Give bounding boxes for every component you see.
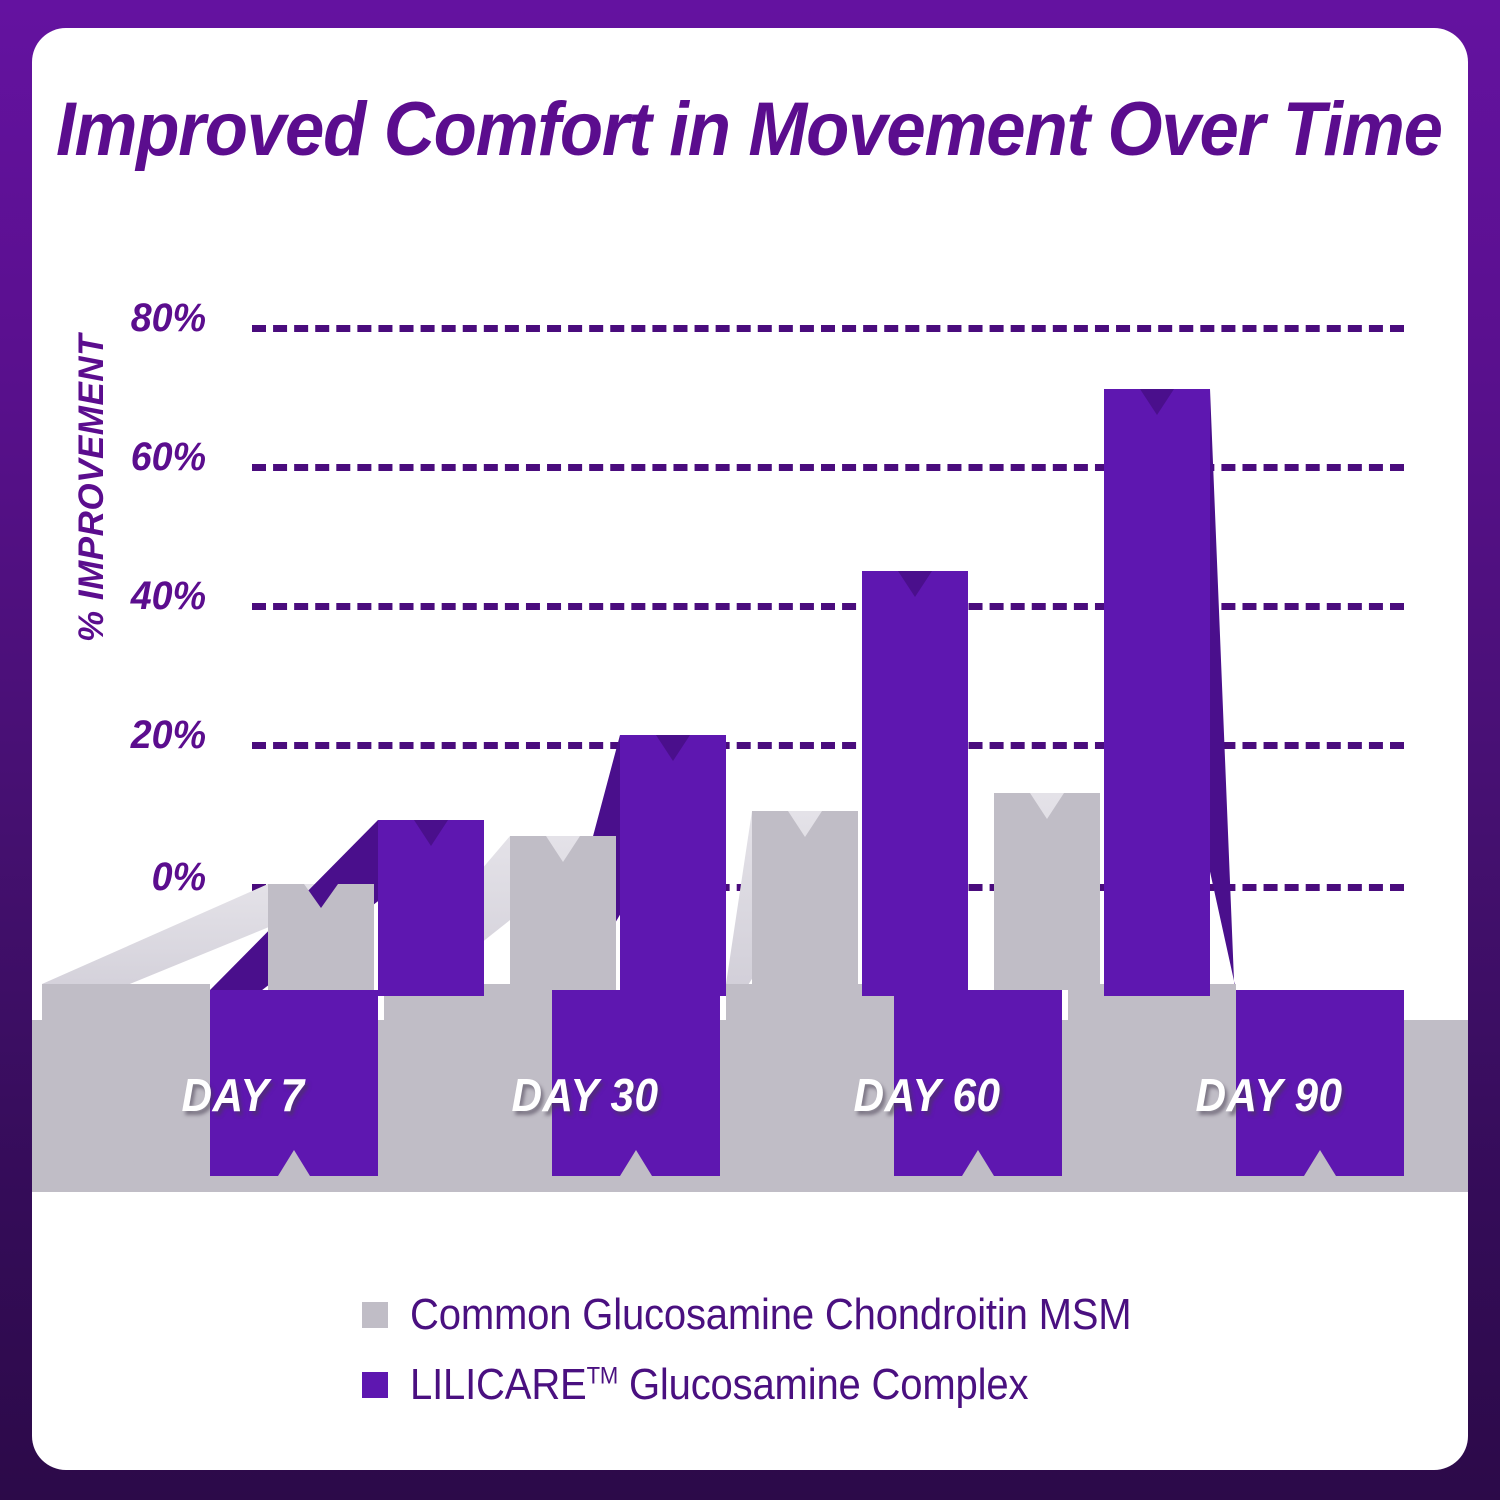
legend: Common Glucosamine Chondroitin MSM LILIC… bbox=[362, 1280, 1362, 1420]
x-axis-label-day-90: DAY 90 bbox=[1103, 1068, 1434, 1122]
bar-purple-day90 bbox=[1104, 389, 1210, 996]
y-tick-label-20: 20% bbox=[56, 713, 206, 758]
gridline-20 bbox=[252, 742, 1404, 749]
legend-label-lilicare-main: LILICARE bbox=[410, 1360, 587, 1409]
x-axis-label-day-60: DAY 60 bbox=[761, 1068, 1092, 1122]
gridline-80 bbox=[252, 325, 1404, 332]
legend-label-lilicare: LILICARETM Glucosamine Complex bbox=[410, 1360, 1028, 1410]
chart-panel: Improved Comfort in Movement Over Time %… bbox=[32, 28, 1468, 1470]
x-axis-label-day-30: DAY 30 bbox=[419, 1068, 750, 1122]
gridline-0 bbox=[252, 884, 1404, 891]
legend-label-common: Common Glucosamine Chondroitin MSM bbox=[410, 1290, 1131, 1340]
y-axis-title: % IMPROVEMENT bbox=[72, 278, 112, 698]
chart-frame: Improved Comfort in Movement Over Time %… bbox=[0, 0, 1500, 1500]
bars-svg bbox=[32, 28, 1468, 1470]
gridline-60 bbox=[252, 464, 1404, 471]
y-tick-label-0: 0% bbox=[56, 855, 206, 900]
legend-swatch-gray-icon bbox=[362, 1302, 388, 1328]
plot-area: % IMPROVEMENT 80% 60% 40% 20% 0% bbox=[32, 28, 1468, 1470]
legend-item-common: Common Glucosamine Chondroitin MSM bbox=[362, 1280, 1362, 1350]
chart-floor bbox=[32, 920, 1468, 1192]
gridline-40 bbox=[252, 603, 1404, 610]
legend-swatch-purple-icon bbox=[362, 1372, 388, 1398]
trademark-icon: TM bbox=[587, 1362, 618, 1389]
y-tick-label-60: 60% bbox=[56, 435, 206, 480]
legend-label-lilicare-rest: Glucosamine Complex bbox=[618, 1360, 1028, 1409]
y-tick-label-80: 80% bbox=[56, 296, 206, 341]
bars-layer bbox=[32, 28, 1468, 1470]
legend-item-lilicare: LILICARETM Glucosamine Complex bbox=[362, 1350, 1362, 1420]
y-tick-label-40: 40% bbox=[56, 574, 206, 619]
x-axis-label-day-7: DAY 7 bbox=[77, 1068, 408, 1122]
